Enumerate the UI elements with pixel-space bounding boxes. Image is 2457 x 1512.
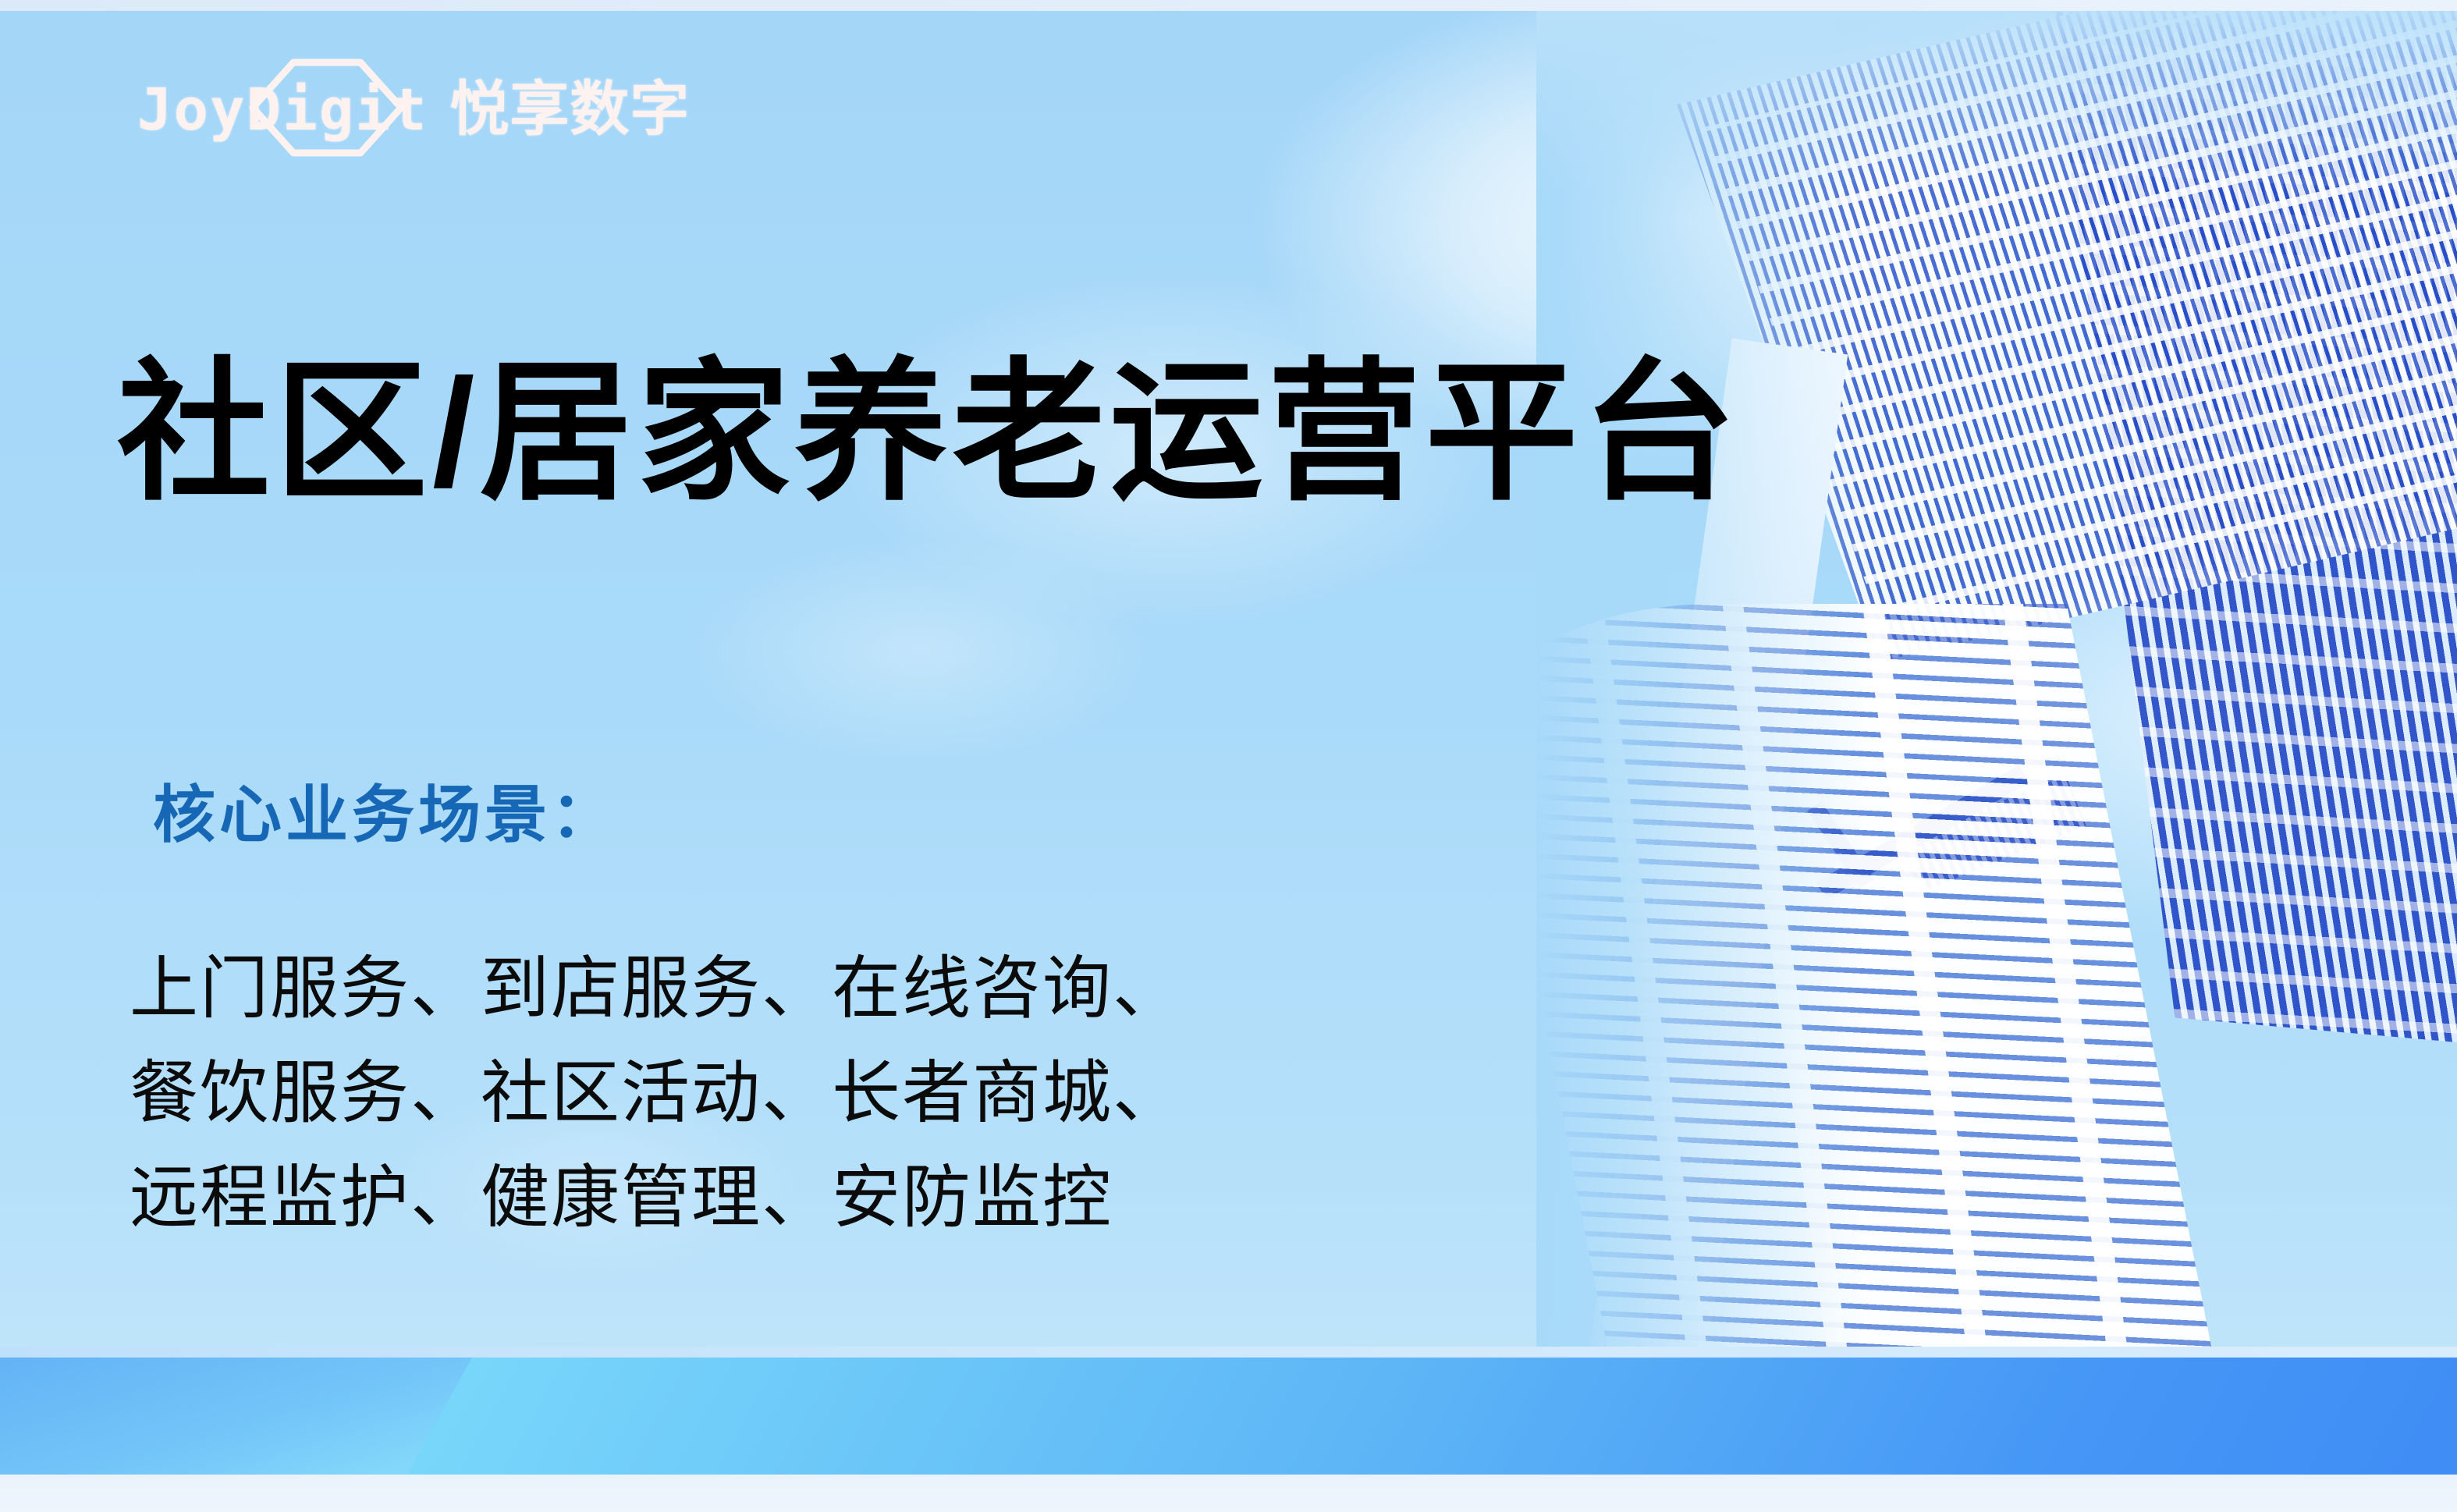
scenario-line: 上门服务、到店服务、在线咨询、 bbox=[130, 936, 1183, 1041]
slide-root: JoyDigit 悦享数字 社区/居家养老运营平台 核心业务场景： 上门服务、到… bbox=[0, 0, 2457, 1512]
scenario-list: 上门服务、到店服务、在线咨询、 餐饮服务、社区活动、长者商城、 远程监护、健康管… bbox=[130, 936, 1183, 1249]
top-edge-strip bbox=[0, 0, 2457, 11]
building-top-fade bbox=[1536, 11, 2457, 190]
skyscraper-photo bbox=[1536, 11, 2457, 1384]
logo-chinese-text: 悦享数字 bbox=[449, 80, 690, 140]
page-title: 社区/居家养老运营平台 bbox=[117, 350, 1740, 516]
band-top-edge bbox=[0, 1347, 2457, 1358]
section-heading: 核心业务场景： bbox=[153, 784, 617, 847]
band-parallelogram-right bbox=[407, 1358, 2457, 1475]
scenario-line: 远程监护、健康管理、安防监控 bbox=[130, 1145, 1183, 1250]
logo-latin-text: JoyDigit bbox=[137, 81, 428, 139]
brand-logo: JoyDigit 悦享数字 bbox=[137, 67, 690, 153]
scenario-line: 餐饮服务、社区活动、长者商城、 bbox=[130, 1041, 1183, 1145]
bottom-decorative-band bbox=[0, 1347, 2457, 1512]
building-left-fade bbox=[1536, 11, 1864, 1384]
